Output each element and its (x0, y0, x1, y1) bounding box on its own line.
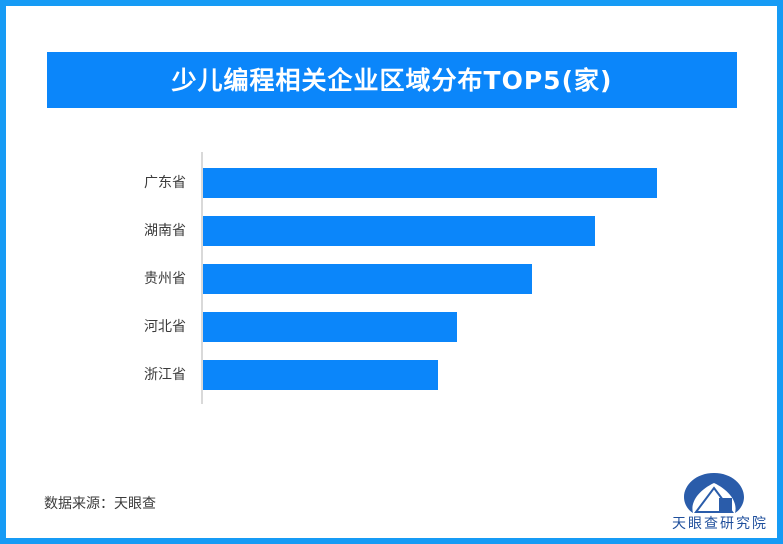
bar-value (203, 168, 657, 198)
bar-value (203, 264, 532, 294)
bar-track (203, 168, 657, 198)
brand-name: 天眼查研究院 (661, 513, 779, 533)
bar-row: 湖南省 (6, 216, 783, 246)
bar-value (203, 216, 595, 246)
bar-value (203, 360, 438, 390)
bar-category-label: 河北省 (66, 312, 186, 342)
bar-track (203, 312, 457, 342)
brand-logo: 天眼查研究院 (661, 472, 779, 534)
infographic-card: 少儿编程相关企业区域分布TOP5(家) 广东省 湖南省 贵州省 (0, 0, 783, 544)
bar-row: 贵州省 (6, 264, 783, 294)
bar-series: 广东省 湖南省 贵州省 河北省 (6, 146, 783, 421)
bar-category-label: 湖南省 (66, 216, 186, 246)
bar-row: 广东省 (6, 168, 783, 198)
tianyancha-eye-arch-logo-icon (683, 472, 745, 514)
page-title: 少儿编程相关企业区域分布TOP5(家) (172, 68, 613, 93)
bar-category-label: 浙江省 (66, 360, 186, 390)
bar-row: 河北省 (6, 312, 783, 342)
bar-category-label: 贵州省 (66, 264, 186, 294)
bar-track (203, 216, 595, 246)
bar-value (203, 312, 457, 342)
bar-category-label: 广东省 (66, 168, 186, 198)
data-source-note: 数据来源：天眼查 (44, 493, 156, 513)
bar-track (203, 264, 532, 294)
bar-row: 浙江省 (6, 360, 783, 390)
title-banner: 少儿编程相关企业区域分布TOP5(家) (47, 52, 737, 108)
bar-chart: 广东省 湖南省 贵州省 河北省 (6, 146, 783, 421)
bar-track (203, 360, 438, 390)
